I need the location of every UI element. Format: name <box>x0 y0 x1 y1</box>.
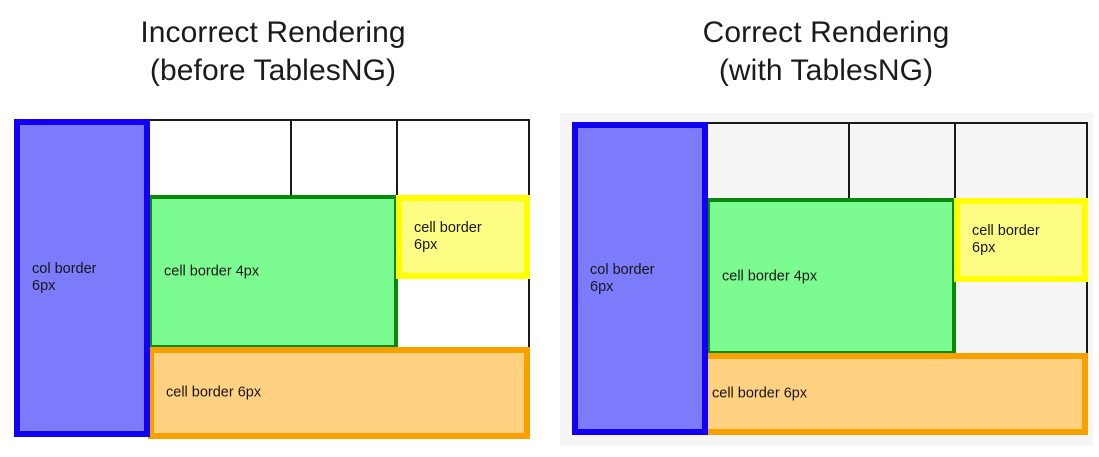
orange-cell-incorrect-label: cell border 6px <box>166 385 261 402</box>
panel-title-correct-line1: Correct Rendering <box>553 14 1099 52</box>
yellow-cell-correct: cell border 6px <box>954 198 1088 282</box>
col-border-block-incorrect-label: col border 6px <box>32 261 96 295</box>
orange-cell-correct: cell border 6px <box>694 353 1088 435</box>
figure-canvas: Incorrect Rendering (before TablesNG) Co… <box>0 0 1099 457</box>
yellow-cell-correct-label: cell border 6px <box>972 223 1040 257</box>
panel-title-incorrect-line2: (before TablesNG) <box>0 52 546 90</box>
header-cell-1-correct <box>706 122 850 200</box>
green-cell-correct-label: cell border 4px <box>722 268 817 285</box>
header-cell-3-correct <box>954 122 1088 200</box>
table-incorrect: cell border 4px cell border 6px cell bor… <box>14 119 530 439</box>
panel-title-incorrect-line1: Incorrect Rendering <box>0 14 546 52</box>
green-cell-incorrect: cell border 4px <box>148 195 398 349</box>
panel-title-correct: Correct Rendering (with TablesNG) <box>553 14 1099 90</box>
col-border-block-incorrect: col border 6px <box>14 119 150 437</box>
table-correct: cell border 4px cell border 6px cell bor… <box>560 113 1093 445</box>
orange-cell-correct-label: cell border 6px <box>712 386 807 403</box>
green-cell-correct: cell border 4px <box>706 198 956 355</box>
green-cell-incorrect-label: cell border 4px <box>164 264 259 281</box>
header-cell-2-incorrect <box>290 119 398 197</box>
header-cell-1-incorrect <box>148 119 292 197</box>
panel-title-correct-line2: (with TablesNG) <box>553 52 1099 90</box>
orange-cell-incorrect: cell border 6px <box>148 347 530 439</box>
header-cell-2-correct <box>848 122 956 200</box>
yellow-cell-incorrect-label: cell border 6px <box>414 220 482 254</box>
col-border-block-correct-label: col border 6px <box>590 262 654 296</box>
panel-title-incorrect: Incorrect Rendering (before TablesNG) <box>0 14 546 90</box>
yellow-cell-incorrect: cell border 6px <box>396 195 530 279</box>
header-cell-3-incorrect <box>396 119 530 197</box>
col-border-block-correct: col border 6px <box>572 122 708 435</box>
